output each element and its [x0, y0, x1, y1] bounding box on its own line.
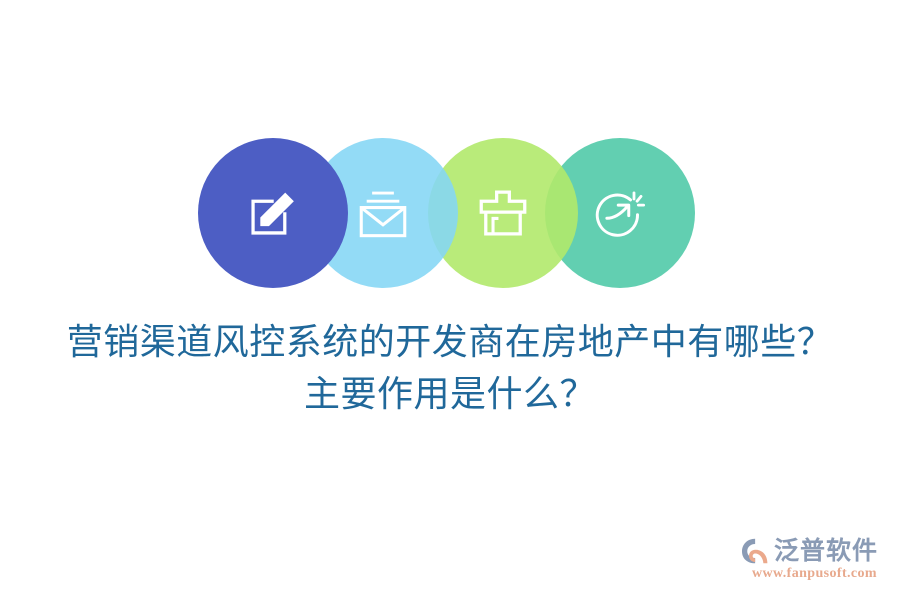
icon-circle-edit: [198, 138, 348, 288]
brand-logo-top: 泛普软件: [741, 537, 878, 565]
brand-logo[interactable]: 泛普软件 www.fanpusoft.com: [741, 537, 878, 582]
brand-logo-name: 泛普软件: [774, 537, 878, 565]
store-shop-icon: [474, 184, 532, 242]
page-title-line-2: 主要作用是什么？: [0, 368, 900, 420]
page-title-line-1: 营销渠道风控系统的开发商在房地产中有哪些？: [0, 316, 900, 368]
icon-cluster: [0, 138, 900, 290]
envelope-mail-icon: [354, 184, 412, 242]
fanpu-swoosh-logo-icon: [741, 537, 771, 565]
edit-compose-icon: [244, 184, 302, 242]
banner-root: 营销渠道风控系统的开发商在房地产中有哪些？ 主要作用是什么？ 泛普软件 www.…: [0, 0, 900, 600]
brand-logo-url: www.fanpusoft.com: [752, 566, 877, 582]
growth-arrow-circle-icon: [592, 185, 648, 241]
page-title: 营销渠道风控系统的开发商在房地产中有哪些？ 主要作用是什么？: [0, 316, 900, 420]
